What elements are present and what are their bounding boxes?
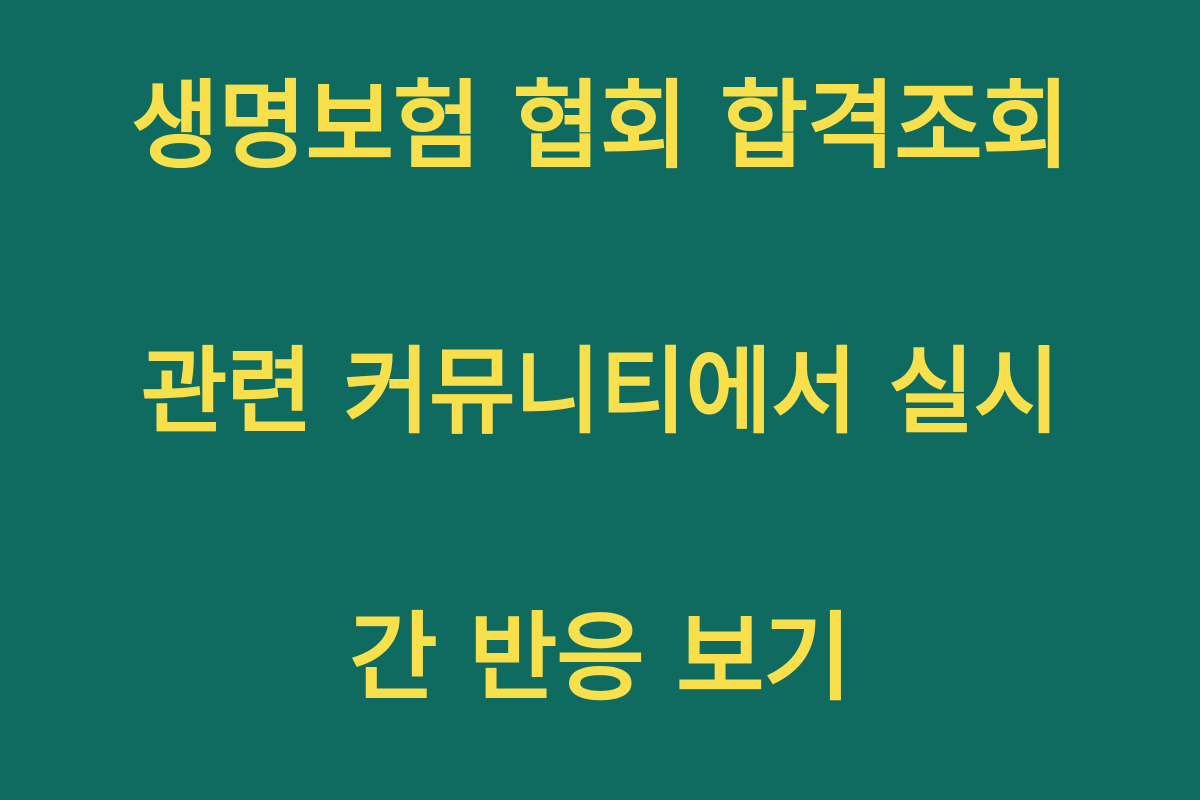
headline-line-1: 생명보험 협회 합격조회 <box>40 60 1160 193</box>
banner-card: 생명보험 협회 합격조회 관련 커뮤니티에서 실시 간 반응 보기 <box>0 0 1200 800</box>
headline-line-3: 간 반응 보기 <box>40 592 1160 725</box>
headline-text: 생명보험 협회 합격조회 관련 커뮤니티에서 실시 간 반응 보기 <box>40 0 1160 800</box>
headline-line-2: 관련 커뮤니티에서 실시 <box>40 326 1160 459</box>
